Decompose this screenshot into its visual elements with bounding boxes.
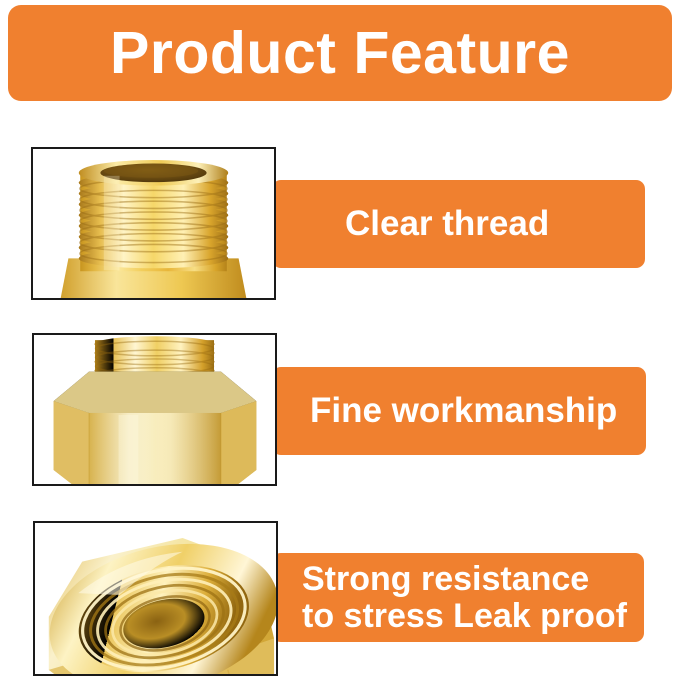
- brass-male-thread-closeup: [33, 149, 274, 298]
- feature-label-bar: Clear thread: [272, 180, 645, 268]
- brass-female-thread-closeup: [35, 523, 276, 674]
- feature-label-text: Fine workmanship: [310, 393, 617, 429]
- brass-female-thread-icon: [35, 523, 276, 674]
- feature-photo-frame: [33, 521, 278, 676]
- feature-row: Fine workmanship: [0, 333, 679, 488]
- feature-row: Strong resistance to stress Leak proof: [0, 521, 679, 676]
- feature-photo-frame: [31, 147, 276, 300]
- feature-label-text: Clear thread: [345, 206, 549, 242]
- feature-photo-frame: [32, 333, 277, 486]
- brass-hex-nut-icon: [34, 335, 275, 484]
- header-banner: Product Feature: [8, 5, 672, 101]
- feature-row: Clear thread: [0, 147, 679, 302]
- brass-hex-body-closeup: [34, 335, 275, 484]
- page-title: Product Feature: [110, 24, 570, 83]
- feature-label-text: Strong resistance to stress Leak proof: [302, 561, 627, 633]
- feature-label-bar: Fine workmanship: [272, 367, 646, 455]
- feature-label-bar: Strong resistance to stress Leak proof: [272, 553, 644, 642]
- brass-male-thread-icon: [33, 149, 274, 298]
